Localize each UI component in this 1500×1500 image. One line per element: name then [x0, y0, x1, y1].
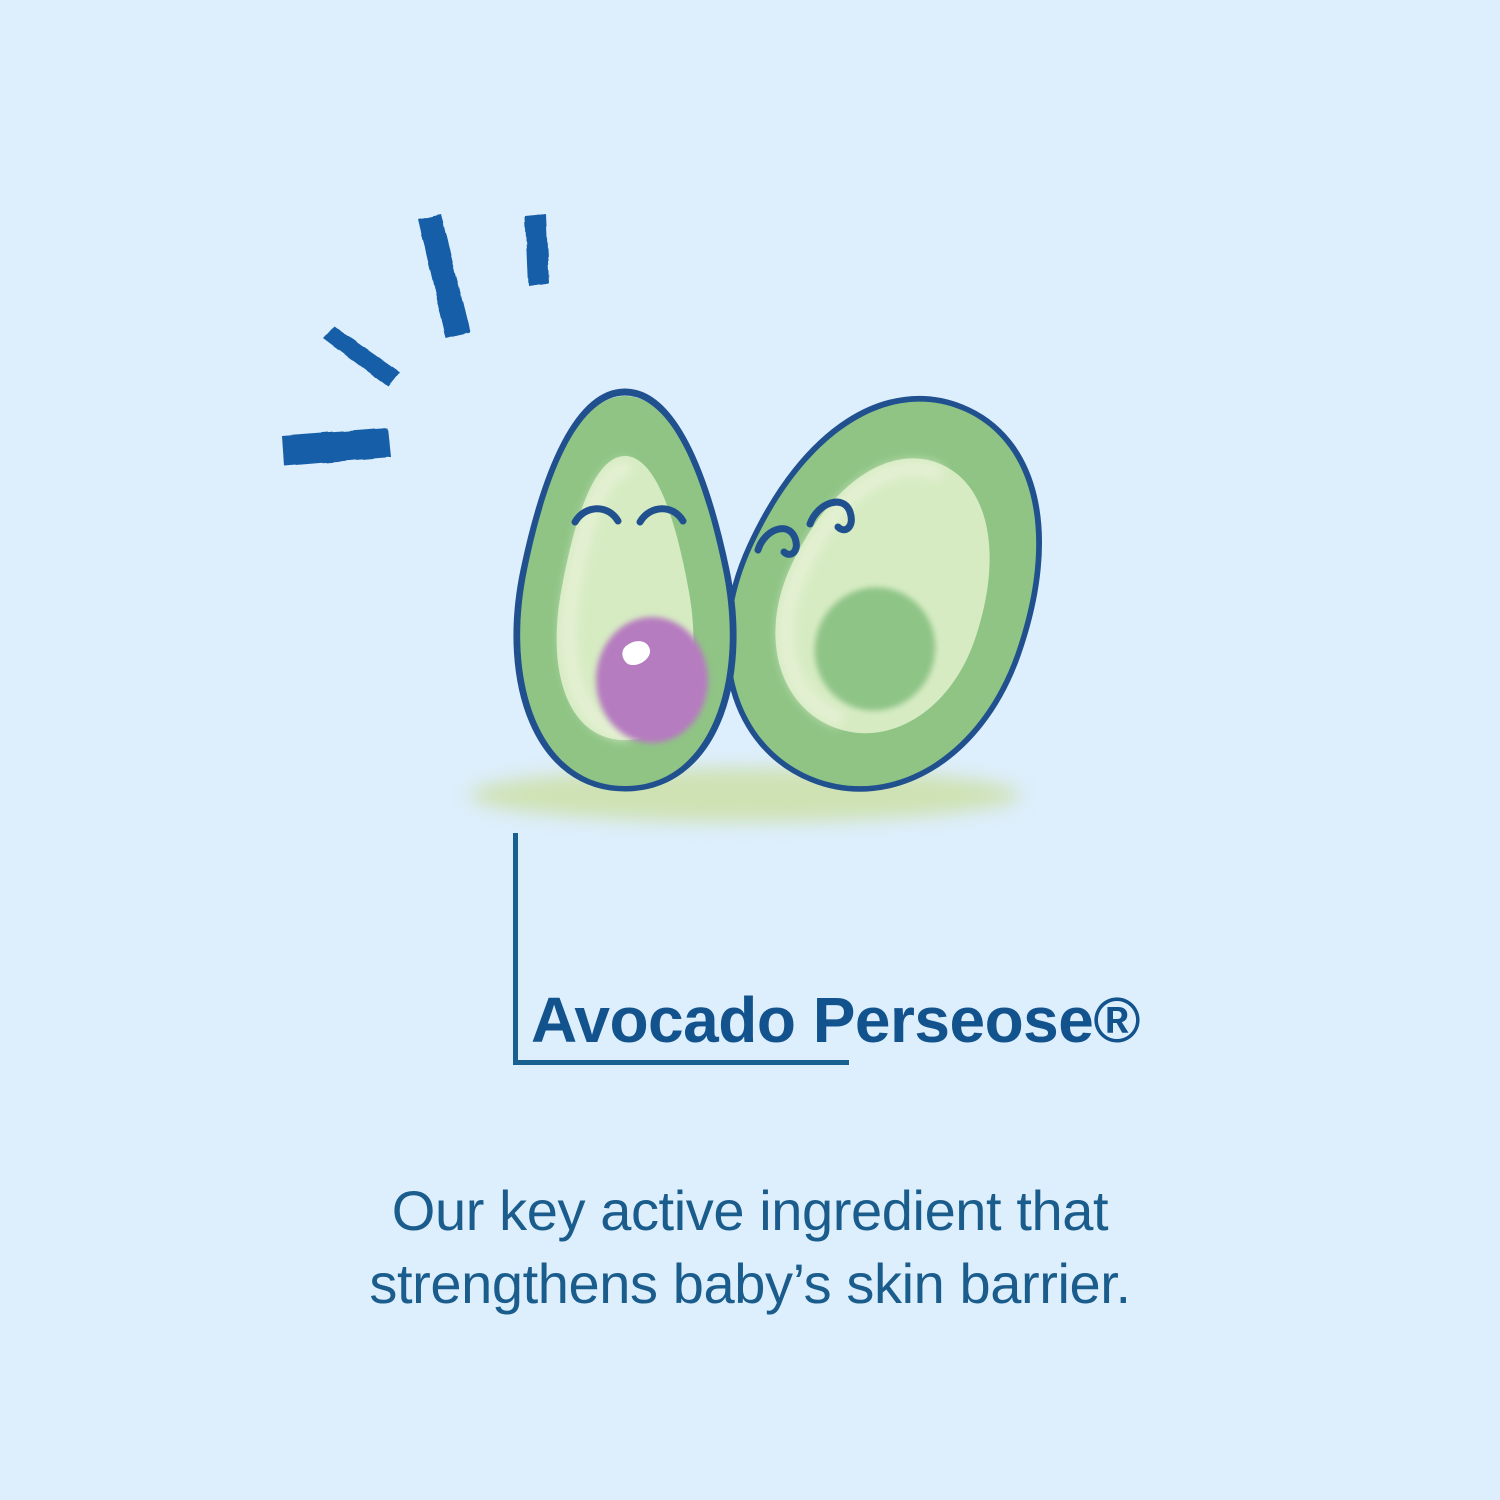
sparkle-marks: [282, 214, 549, 466]
bracket-horizontal-line: [513, 1060, 849, 1065]
sparkle-short-vertical: [525, 214, 549, 286]
avocado-illustration: [0, 0, 1500, 900]
sparkle-long-diagonal: [418, 214, 470, 338]
avocado-left-pit: [596, 617, 708, 743]
ingredient-info-card: Avocado Perseose® Our key active ingredi…: [0, 0, 1500, 1500]
sparkle-horizontal: [282, 428, 391, 466]
description-line-1: Our key active ingredient that: [0, 1175, 1500, 1248]
avocado-half-right: [678, 354, 1095, 833]
page-title: Avocado Perseose®: [531, 988, 1140, 1052]
description-line-2: strengthens baby’s skin barrier.: [0, 1248, 1500, 1321]
description-text: Our key active ingredient that strengthe…: [0, 1175, 1500, 1321]
ground-shadow: [470, 768, 1020, 822]
avocado-half-left: [517, 392, 733, 788]
sparkle-mid-diagonal: [323, 326, 400, 387]
